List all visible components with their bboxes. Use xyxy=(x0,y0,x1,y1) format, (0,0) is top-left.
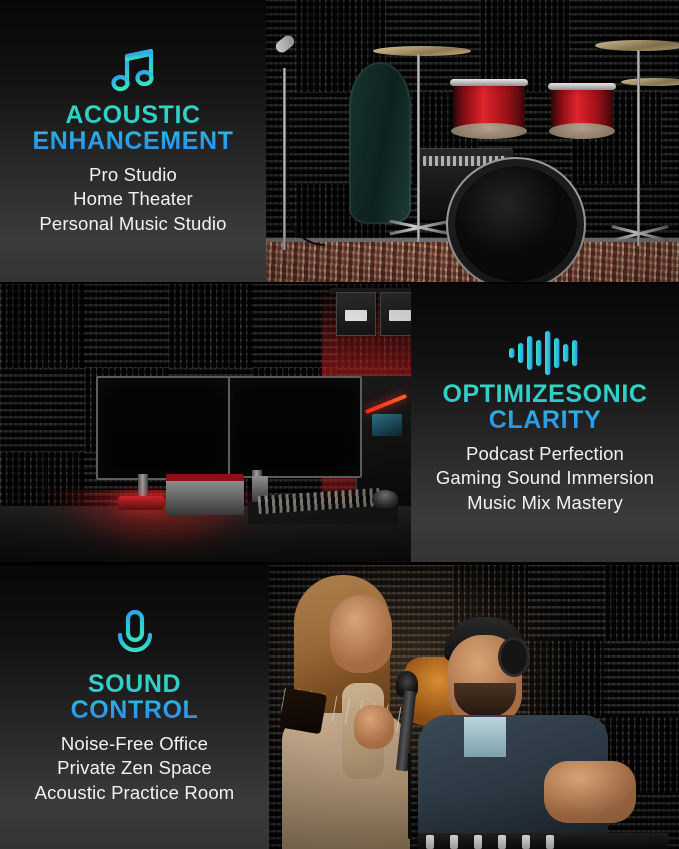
acoustic-panels-infographic: ACOUSTIC ENHANCEMENT Pro Studio Home The… xyxy=(0,0,679,849)
audio-waveform-icon xyxy=(508,331,582,375)
list-item: Acoustic Practice Room xyxy=(35,781,235,805)
cymbal-stand xyxy=(417,54,420,242)
storage-box-right xyxy=(380,292,412,336)
microphone-cable xyxy=(408,753,411,839)
row-divider-bottom xyxy=(0,562,679,564)
feature-row-sound-control: SOUND CONTROL Noise-Free Office Private … xyxy=(0,565,679,849)
list-item: Noise-Free Office xyxy=(35,732,235,756)
drum-studio-photo xyxy=(265,0,679,282)
list-item: Pro Studio xyxy=(39,163,226,187)
feature-row-acoustic-enhancement: ACOUSTIC ENHANCEMENT Pro Studio Home The… xyxy=(0,0,679,282)
monitor-base-led xyxy=(118,496,164,510)
guitar-headstock xyxy=(279,688,327,735)
heading-line-2: ENHANCEMENT xyxy=(32,128,233,154)
panel-optimizesonic-clarity: OPTIMIZESONIC CLARITY Podcast Perfection… xyxy=(411,284,679,562)
monitor-left xyxy=(96,376,232,480)
panel-acoustic-enhancement: ACOUSTIC ENHANCEMENT Pro Studio Home The… xyxy=(0,0,266,282)
feature-list-clarity: Podcast Perfection Gaming Sound Immersio… xyxy=(436,442,654,515)
mic-stand xyxy=(283,68,286,250)
row-divider-top xyxy=(0,282,679,284)
microphone-icon xyxy=(111,609,159,665)
desk-speaker-box xyxy=(166,474,244,515)
feature-list-acoustic: Pro Studio Home Theater Personal Music S… xyxy=(39,163,226,236)
gaming-desk-photo xyxy=(0,284,412,562)
list-item: Podcast Perfection xyxy=(436,442,654,466)
producer-arm xyxy=(544,761,636,823)
recording-session-photo xyxy=(268,565,679,849)
list-item: Music Mix Mastery xyxy=(436,491,654,515)
music-note-icon xyxy=(107,46,159,96)
studio-headphones xyxy=(498,637,530,677)
pc-internal-component xyxy=(372,414,402,436)
heading-line-1: SOUND xyxy=(71,671,199,697)
crash-cymbal xyxy=(373,46,471,56)
rack-tom-left xyxy=(453,82,525,134)
feature-list-sound-control: Noise-Free Office Private Zen Space Acou… xyxy=(35,732,235,805)
panel-heading-clarity: OPTIMIZESONIC CLARITY xyxy=(442,381,647,433)
list-item: Gaming Sound Immersion xyxy=(436,466,654,490)
monitor-stand xyxy=(138,474,148,498)
heading-line-1: ACOUSTIC xyxy=(32,102,233,128)
heading-line-2: CONTROL xyxy=(71,697,199,723)
producer-tshirt xyxy=(464,717,506,757)
list-item: Private Zen Space xyxy=(35,756,235,780)
hi-hat-stand xyxy=(637,50,640,246)
kick-drum xyxy=(455,166,577,282)
storage-box-left xyxy=(336,292,376,336)
singer-hand xyxy=(354,705,394,749)
singer-face xyxy=(330,595,392,673)
panel-heading-acoustic: ACOUSTIC ENHANCEMENT xyxy=(32,102,233,154)
list-item: Personal Music Studio xyxy=(39,212,226,236)
heading-line-1: OPTIMIZESONIC xyxy=(442,381,647,407)
mic-cable xyxy=(287,92,325,246)
feature-row-optimizesonic-clarity: OPTIMIZESONIC CLARITY Podcast Perfection… xyxy=(0,284,679,562)
list-item: Home Theater xyxy=(39,187,226,211)
monitor-right xyxy=(228,376,362,478)
gaming-mouse xyxy=(372,490,398,508)
panel-sound-control: SOUND CONTROL Noise-Free Office Private … xyxy=(0,565,269,849)
heading-line-2: CLARITY xyxy=(442,407,647,433)
guitar-case xyxy=(349,62,411,224)
rack-tom-right xyxy=(551,86,613,134)
panel-heading-sound-control: SOUND CONTROL xyxy=(71,671,199,723)
